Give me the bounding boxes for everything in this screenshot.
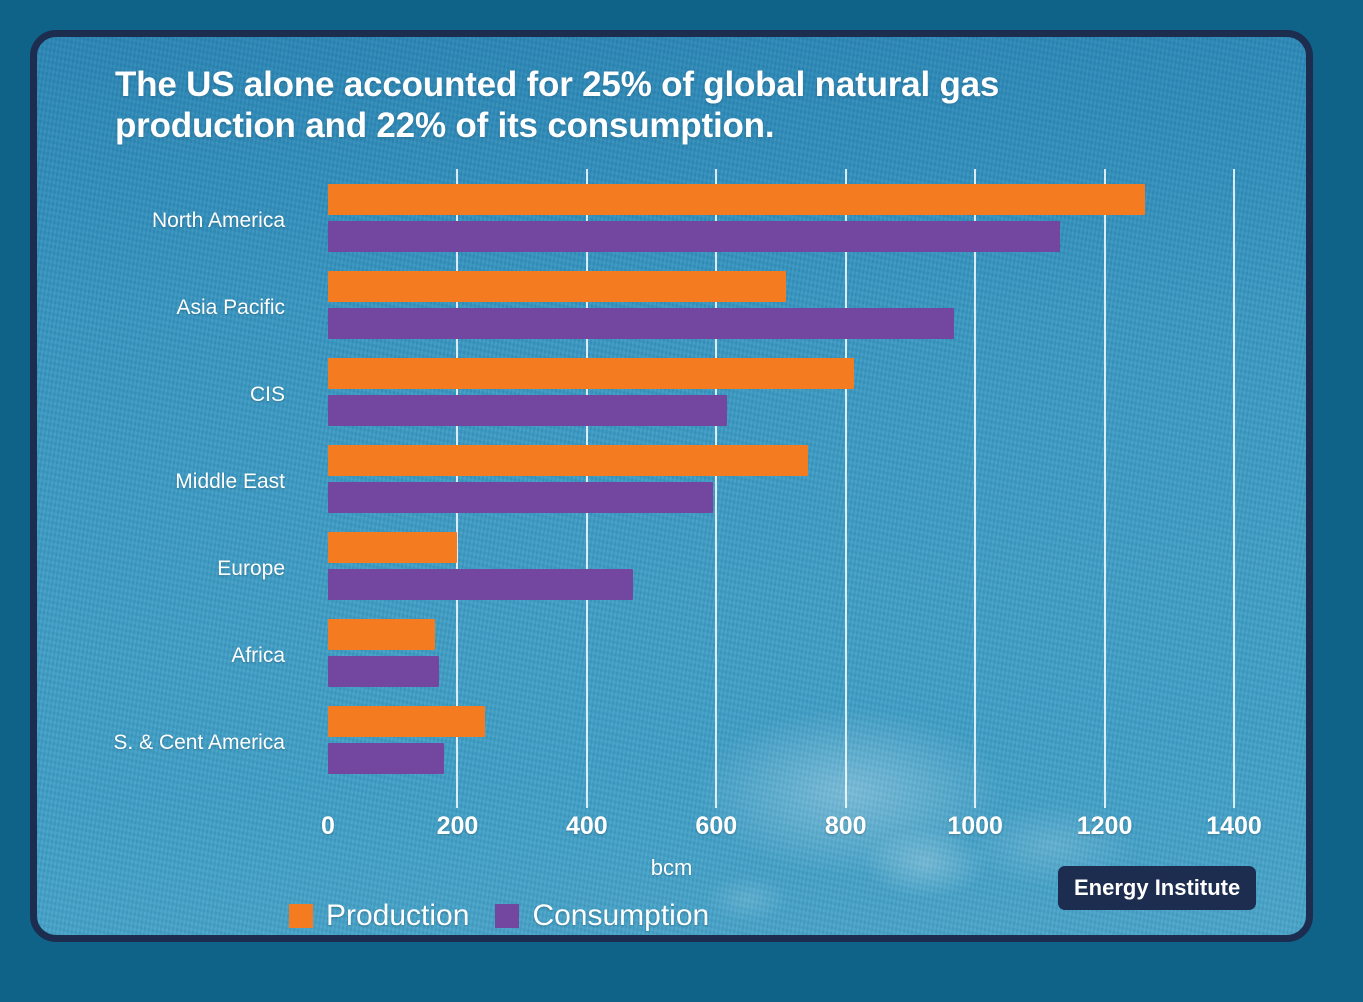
x-axis-tick-label: 600	[695, 812, 737, 841]
legend-label-consumption: Consumption	[532, 899, 709, 933]
x-axis-tick-label: 1000	[947, 812, 1003, 841]
bar-consumption	[328, 569, 633, 600]
y-axis-category-label: Europe	[217, 557, 285, 581]
bar-production	[328, 532, 457, 563]
energy-institute-badge: Energy Institute	[1058, 866, 1256, 910]
legend-item-consumption[interactable]: Consumption	[495, 899, 709, 933]
chart-frame: The US alone accounted for 25% of global…	[30, 30, 1313, 942]
bar-production	[328, 271, 786, 302]
bar-production	[328, 706, 485, 737]
bar-consumption	[328, 656, 439, 687]
bar-consumption	[328, 395, 727, 426]
x-axis-tick-label: 200	[437, 812, 479, 841]
bar-consumption	[328, 482, 713, 513]
y-axis-category-label: Middle East	[175, 470, 285, 494]
legend-swatch-consumption-icon	[495, 904, 519, 928]
bar-consumption	[328, 308, 954, 339]
bar-production	[328, 184, 1145, 215]
poster: The US alone accounted for 25% of global…	[0, 0, 1363, 1002]
x-axis-tick-label: 0	[321, 812, 335, 841]
chart-legend: Production Consumption	[289, 899, 709, 933]
y-axis-category-label: Africa	[231, 644, 285, 668]
legend-swatch-production-icon	[289, 904, 313, 928]
x-axis-tick-label: 1200	[1077, 812, 1133, 841]
x-axis-tick-label: 400	[566, 812, 608, 841]
bar-consumption	[328, 221, 1060, 252]
y-axis-category-label: North America	[152, 209, 285, 233]
gridline	[974, 169, 976, 808]
bar-production	[328, 358, 854, 389]
x-axis-tick-label: 1400	[1206, 812, 1262, 841]
gridline	[715, 169, 717, 808]
y-axis-category-label: Asia Pacific	[176, 296, 285, 320]
bar-consumption	[328, 743, 444, 774]
x-axis-tick-label: 800	[825, 812, 867, 841]
gridline	[1233, 169, 1235, 808]
bar-production	[328, 619, 435, 650]
gridline	[845, 169, 847, 808]
legend-label-production: Production	[326, 899, 469, 933]
gridline	[1104, 169, 1106, 808]
legend-item-production[interactable]: Production	[289, 899, 469, 933]
bar-chart-plot: 0200400600800100012001400North AmericaAs…	[37, 37, 1306, 935]
bar-production	[328, 445, 808, 476]
y-axis-category-label: CIS	[250, 383, 285, 407]
y-axis-category-label: S. & Cent America	[113, 731, 285, 755]
